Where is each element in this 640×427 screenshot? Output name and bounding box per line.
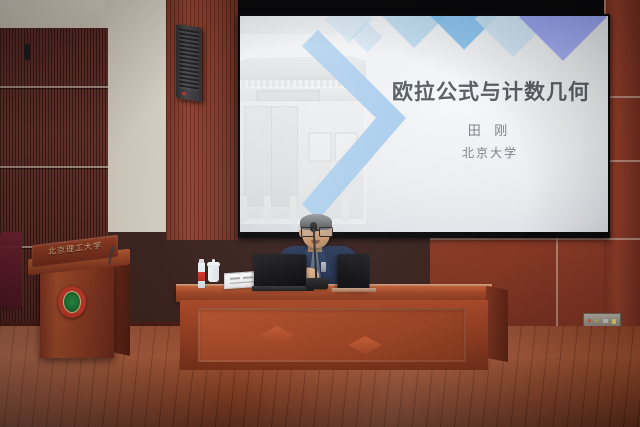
projection-screen: 欧拉公式与计数几何 田 刚 北京大学 bbox=[240, 16, 608, 232]
tea-cup-knob bbox=[212, 259, 215, 263]
panel-seam bbox=[0, 166, 108, 168]
second-laptop-base bbox=[332, 288, 376, 292]
crest-center bbox=[63, 291, 81, 313]
name-card-text bbox=[230, 277, 240, 280]
bottle-cap bbox=[199, 259, 204, 263]
plate-port-vga bbox=[603, 319, 608, 323]
glasses-lens-right bbox=[319, 227, 333, 237]
laptop-screen[interactable] bbox=[254, 253, 306, 288]
panel-seam bbox=[0, 86, 108, 88]
plate-port-yellow bbox=[595, 319, 598, 322]
table-right-side bbox=[486, 286, 508, 362]
table-front-panel bbox=[180, 300, 488, 370]
speaker-bracket bbox=[24, 44, 30, 61]
lecture-hall-photo: 欧拉公式与计数几何 田 刚 北京大学 北京理工大学 bbox=[0, 0, 640, 427]
lectern-podium: 北京理工大学 bbox=[26, 240, 130, 358]
table-panel-inset bbox=[198, 308, 466, 362]
presentation-slide: 欧拉公式与计数几何 田 刚 北京大学 bbox=[240, 16, 608, 232]
laptop-keyboard-base[interactable] bbox=[252, 286, 314, 291]
plate-port-red bbox=[588, 319, 591, 322]
red-chair bbox=[0, 232, 22, 310]
table-diamond-inlay bbox=[260, 326, 294, 344]
room-background: 欧拉公式与计数几何 田 刚 北京大学 北京理工大学 bbox=[0, 0, 640, 427]
second-laptop-screen[interactable] bbox=[337, 253, 369, 290]
plate-port-power bbox=[612, 319, 616, 324]
projector-sheen bbox=[240, 16, 608, 232]
name-card-text bbox=[243, 276, 253, 279]
speaker-grille bbox=[179, 28, 199, 91]
tea-cup[interactable] bbox=[208, 266, 219, 282]
university-crest-icon bbox=[58, 286, 86, 318]
bottle-label bbox=[198, 272, 205, 281]
speaker-power-led bbox=[182, 92, 186, 96]
podium-side bbox=[112, 260, 130, 356]
name-card-text bbox=[230, 281, 254, 284]
table-diamond-inlay bbox=[348, 336, 382, 354]
desk-microphone-base[interactable] bbox=[306, 278, 328, 289]
wall-loudspeaker bbox=[176, 24, 202, 102]
lanyard-badge bbox=[321, 262, 326, 272]
wall-seam bbox=[430, 238, 640, 240]
